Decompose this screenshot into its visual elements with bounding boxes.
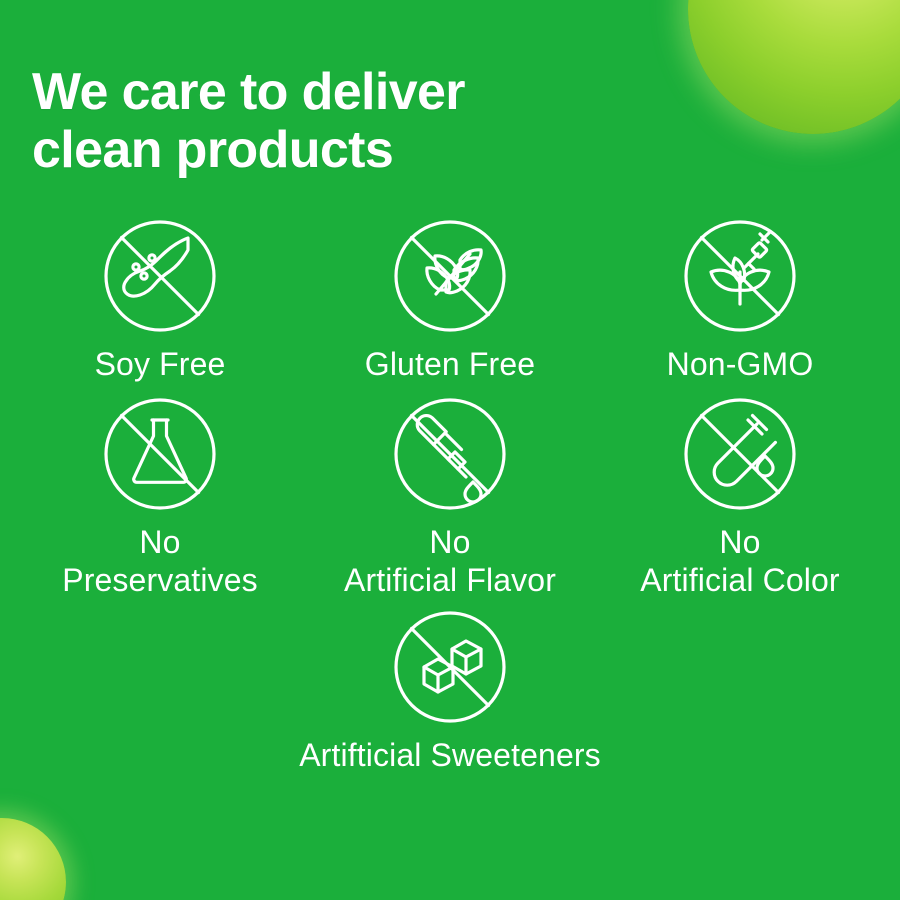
badge-no-artificial-flavor: No Artificial Flavor (305, 390, 595, 600)
badge-no-artificial-sweeteners: Artifticial Sweeteners (299, 603, 601, 775)
badge-label: Soy Free (95, 346, 226, 384)
badge-label: Gluten Free (365, 346, 535, 384)
no-artificial-sweeteners-sugarcube-icon (386, 603, 514, 731)
badge-label: Non-GMO (667, 346, 814, 384)
badge-row-2: No Preservatives (0, 390, 900, 600)
badge-row-1: Soy Free (0, 212, 900, 384)
badge-grid: Soy Free (0, 212, 900, 775)
page-title: We care to deliver clean products (32, 63, 672, 179)
no-artificial-color-testtube-icon (676, 390, 804, 518)
badge-label: No Artificial Color (590, 524, 890, 600)
badge-non-gmo: Non-GMO (595, 212, 885, 384)
no-gluten-icon (386, 212, 514, 340)
non-gmo-icon (676, 212, 804, 340)
badge-label: No Preservatives (10, 524, 310, 600)
badge-gluten-free: Gluten Free (305, 212, 595, 384)
badge-no-artificial-color: No Artificial Color (595, 390, 885, 600)
no-artificial-flavor-dropper-icon (386, 390, 514, 518)
badge-label: No Artificial Flavor (300, 524, 600, 600)
clean-products-poster: We care to deliver clean products Soy Fr… (0, 0, 900, 900)
badge-soy-free: Soy Free (15, 212, 305, 384)
badge-label: Artifticial Sweeteners (299, 737, 601, 775)
green-fruit-top-right-decoration (688, 0, 900, 134)
badge-row-3: Artifticial Sweeteners (0, 603, 900, 775)
no-soy-icon (96, 212, 224, 340)
no-preservatives-flask-icon (96, 390, 224, 518)
badge-no-preservatives: No Preservatives (15, 390, 305, 600)
green-fruit-bottom-left-decoration (0, 818, 66, 900)
